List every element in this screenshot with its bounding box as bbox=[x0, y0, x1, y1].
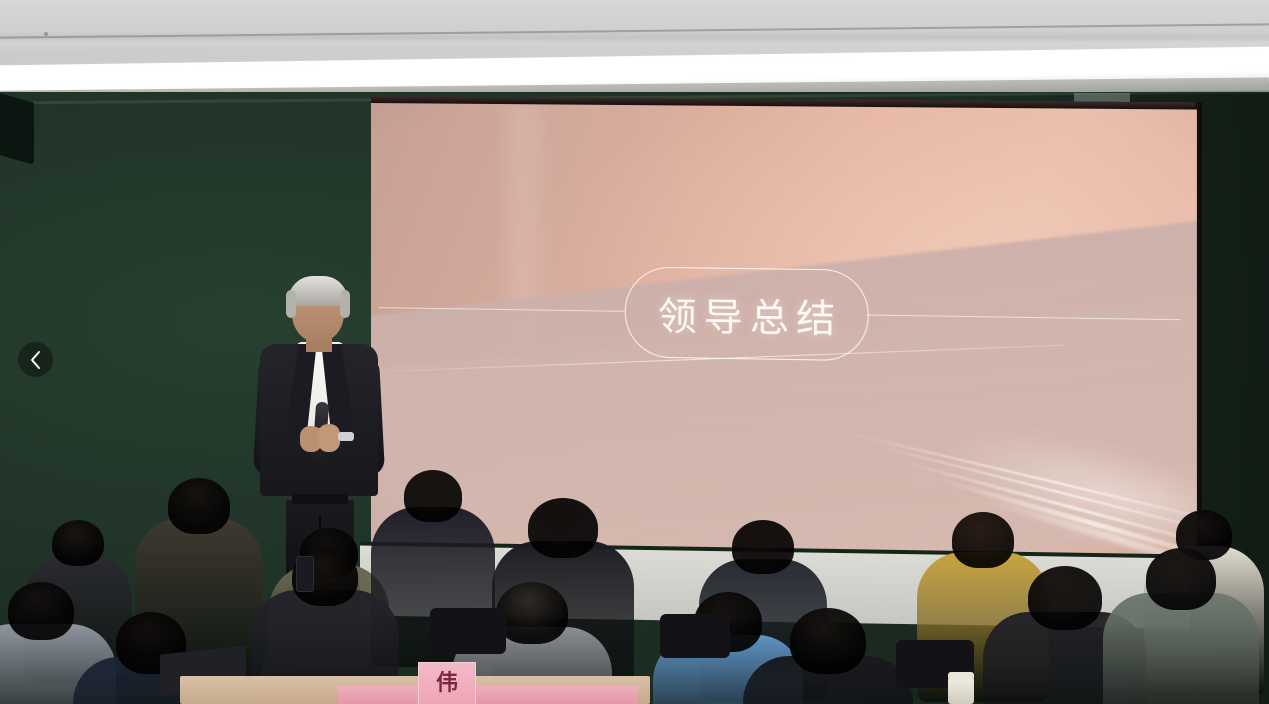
thermos bbox=[948, 676, 974, 704]
attendee-head bbox=[168, 478, 230, 534]
name-placard-text: 伟 bbox=[419, 663, 475, 703]
photo-viewer-stage: 领导总结 伟 bbox=[0, 0, 1269, 704]
attendee-head bbox=[52, 520, 104, 566]
attendee-head bbox=[496, 582, 568, 644]
previous-image-button[interactable] bbox=[18, 342, 53, 377]
attendee-head bbox=[732, 520, 794, 574]
chevron-left-icon bbox=[29, 350, 42, 370]
smartphone bbox=[296, 556, 314, 592]
attendee-head bbox=[1028, 566, 1102, 630]
attendee-head bbox=[1146, 548, 1216, 610]
attendee-head bbox=[404, 470, 462, 522]
attendee-head bbox=[528, 498, 598, 558]
chair-back bbox=[430, 608, 506, 654]
attendee-head bbox=[8, 582, 74, 640]
audience bbox=[0, 0, 1269, 704]
name-placard: 伟 bbox=[418, 662, 476, 704]
attendee-head bbox=[790, 608, 866, 674]
attendee-head bbox=[952, 512, 1014, 568]
chair-back bbox=[660, 614, 730, 658]
thermos-cap bbox=[948, 672, 974, 680]
pink-desk-surface bbox=[338, 686, 638, 704]
